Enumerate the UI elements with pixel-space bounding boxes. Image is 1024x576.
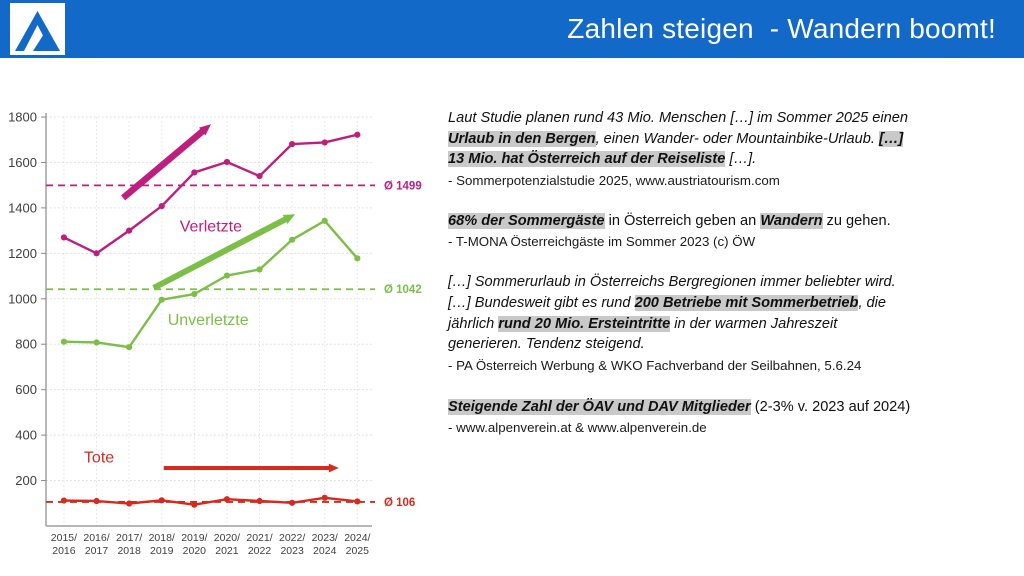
svg-text:2018/: 2018/ bbox=[149, 532, 175, 544]
data-point bbox=[126, 344, 132, 350]
source-citation: - www.alpenverein.at & www.alpenverein.d… bbox=[448, 419, 1018, 438]
header-divider bbox=[0, 58, 1024, 61]
quote-text: […] Bundesweit gibt es rund bbox=[448, 295, 635, 311]
page-title: Zahlen steigen - Wandern boomt! bbox=[567, 0, 996, 58]
svg-text:200: 200 bbox=[15, 473, 37, 488]
data-point bbox=[256, 498, 262, 504]
data-point bbox=[289, 500, 295, 506]
svg-text:2020: 2020 bbox=[183, 545, 207, 557]
svg-text:1000: 1000 bbox=[8, 291, 37, 306]
svg-text:1800: 1800 bbox=[8, 110, 37, 125]
svg-text:2025: 2025 bbox=[346, 545, 370, 557]
data-point bbox=[126, 500, 132, 506]
svg-text:2024/: 2024/ bbox=[344, 532, 370, 544]
alpenverein-mountain-logo bbox=[10, 3, 65, 55]
data-point bbox=[322, 495, 328, 501]
quote-text: jährlich bbox=[448, 316, 498, 332]
source-citation: - Sommerpotenzialstudie 2025, www.austri… bbox=[448, 172, 1018, 191]
svg-text:1600: 1600 bbox=[8, 155, 37, 170]
facts-text-panel: Laut Studie planen rund 43 Mio. Menschen… bbox=[448, 108, 1018, 538]
quote-line: Steigende Zahl der ÖAV und DAV Mitgliede… bbox=[448, 397, 1018, 418]
data-point bbox=[224, 273, 230, 279]
trend-arrow-verletzte-shaft bbox=[123, 130, 204, 198]
highlighted-text: Urlaub in den Bergen bbox=[448, 131, 596, 147]
quote-text: , einen Wander- oder Mountainbike-Urlaub… bbox=[596, 131, 879, 147]
data-point bbox=[354, 255, 360, 261]
highlighted-text: rund 20 Mio. Ersteintritte bbox=[498, 316, 670, 332]
data-point bbox=[126, 228, 132, 234]
svg-text:2021/: 2021/ bbox=[246, 532, 272, 544]
svg-text:2021: 2021 bbox=[215, 545, 239, 557]
svg-text:2020/: 2020/ bbox=[214, 532, 240, 544]
svg-text:400: 400 bbox=[15, 428, 37, 443]
accident-statistics-chart: 200400600800100012001400160018002015/201… bbox=[0, 95, 440, 576]
svg-text:2017/: 2017/ bbox=[116, 532, 142, 544]
quote-text: […] Sommerurlaub in Österreichs Bergregi… bbox=[448, 274, 896, 290]
page-header: Zahlen steigen - Wandern boomt! bbox=[0, 0, 1024, 58]
data-point bbox=[61, 339, 67, 345]
quote-text: in Österreich geben an bbox=[605, 213, 761, 229]
quote-line: […] Sommerurlaub in Österreichs Bergregi… bbox=[448, 272, 1018, 293]
highlighted-text: 200 Betriebe mit Sommerbetrieb bbox=[635, 295, 859, 311]
svg-text:2019: 2019 bbox=[150, 545, 174, 557]
svg-text:1400: 1400 bbox=[8, 200, 37, 215]
series-label-tote: Tote bbox=[84, 449, 114, 466]
quote-text: zu gehen. bbox=[823, 213, 891, 229]
data-point bbox=[93, 498, 99, 504]
data-point bbox=[61, 234, 67, 240]
svg-text:2024: 2024 bbox=[313, 545, 337, 557]
quote-line: Laut Studie planen rund 43 Mio. Menschen… bbox=[448, 108, 1018, 129]
series-line-verletzte bbox=[64, 135, 357, 254]
data-point bbox=[159, 203, 165, 209]
quote-text: Laut Studie planen rund 43 Mio. Menschen… bbox=[448, 110, 908, 126]
data-point bbox=[256, 266, 262, 272]
data-point bbox=[159, 497, 165, 503]
svg-text:600: 600 bbox=[15, 382, 37, 397]
block-3: […] Sommerurlaub in Österreichs Bergregi… bbox=[448, 272, 1018, 375]
svg-text:2019/: 2019/ bbox=[181, 532, 207, 544]
svg-text:2015/: 2015/ bbox=[51, 532, 77, 544]
quote-text: […]. bbox=[725, 151, 756, 167]
highlighted-text: Steigende Zahl der ÖAV und DAV Mitgliede… bbox=[448, 399, 751, 415]
svg-text:2017: 2017 bbox=[85, 545, 109, 557]
quote-text: in der warmen Jahreszeit bbox=[670, 316, 837, 332]
svg-text:2023/: 2023/ bbox=[312, 532, 338, 544]
trend-arrow-tote-head bbox=[329, 464, 339, 473]
data-point bbox=[354, 498, 360, 504]
quote-line: 68% der Sommergäste in Österreich geben … bbox=[448, 211, 1018, 232]
block-2: 68% der Sommergäste in Österreich geben … bbox=[448, 211, 1018, 252]
average-label-verletzte: Ø 1499 bbox=[384, 180, 422, 192]
quote-text: generieren. Tendenz steigend. bbox=[448, 336, 645, 352]
mountain-icon bbox=[10, 3, 65, 55]
data-point bbox=[159, 297, 165, 303]
data-point bbox=[289, 141, 295, 147]
quote-line: generieren. Tendenz steigend. bbox=[448, 334, 1018, 355]
svg-text:1200: 1200 bbox=[8, 246, 37, 261]
svg-text:2022/: 2022/ bbox=[279, 532, 305, 544]
svg-text:2022: 2022 bbox=[248, 545, 272, 557]
data-point bbox=[289, 237, 295, 243]
chart-svg: 200400600800100012001400160018002015/201… bbox=[0, 95, 440, 576]
chart-labels: VerletzteUnverletzteTote bbox=[84, 218, 249, 466]
highlighted-text: […] bbox=[879, 131, 903, 147]
svg-text:2018: 2018 bbox=[117, 545, 141, 557]
series-label-verletzte: Verletzte bbox=[180, 218, 242, 235]
data-point bbox=[322, 218, 328, 224]
source-citation: - PA Österreich Werbung & WKO Fachverban… bbox=[448, 357, 1018, 376]
svg-text:2016: 2016 bbox=[52, 545, 76, 557]
svg-text:800: 800 bbox=[15, 337, 37, 352]
quote-line: jährlich rund 20 Mio. Ersteintritte in d… bbox=[448, 314, 1018, 335]
highlighted-text: 13 Mio. hat Österreich auf der Reiselist… bbox=[448, 151, 725, 167]
data-point bbox=[191, 502, 197, 508]
data-point bbox=[354, 132, 360, 138]
block-1: Laut Studie planen rund 43 Mio. Menschen… bbox=[448, 108, 1018, 191]
quote-text: , die bbox=[858, 295, 886, 311]
data-point bbox=[224, 496, 230, 502]
data-point bbox=[256, 173, 262, 179]
data-point bbox=[322, 139, 328, 145]
highlighted-text: Wandern bbox=[760, 213, 822, 229]
svg-text:2016/: 2016/ bbox=[83, 532, 109, 544]
data-point bbox=[93, 339, 99, 345]
average-label-unverletzte: Ø 1042 bbox=[384, 284, 422, 296]
data-point bbox=[191, 291, 197, 297]
quote-line: Urlaub in den Bergen, einen Wander- oder… bbox=[448, 129, 1018, 150]
highlighted-text: 68% der Sommergäste bbox=[448, 213, 605, 229]
quote-line: 13 Mio. hat Österreich auf der Reiselist… bbox=[448, 149, 1018, 170]
data-point bbox=[61, 497, 67, 503]
series-label-unverletzte: Unverletzte bbox=[168, 312, 249, 329]
block-4: Steigende Zahl der ÖAV und DAV Mitgliede… bbox=[448, 397, 1018, 438]
average-label-tote: Ø 106 bbox=[384, 497, 415, 509]
quote-line: […] Bundesweit gibt es rund 200 Betriebe… bbox=[448, 293, 1018, 314]
quote-text: (2-3% v. 2023 auf 2024) bbox=[751, 399, 911, 415]
data-point bbox=[224, 159, 230, 165]
data-point bbox=[191, 169, 197, 175]
svg-text:2023: 2023 bbox=[280, 545, 304, 557]
source-citation: - T-MONA Österreichgäste im Sommer 2023 … bbox=[448, 233, 1018, 252]
data-point bbox=[93, 250, 99, 256]
